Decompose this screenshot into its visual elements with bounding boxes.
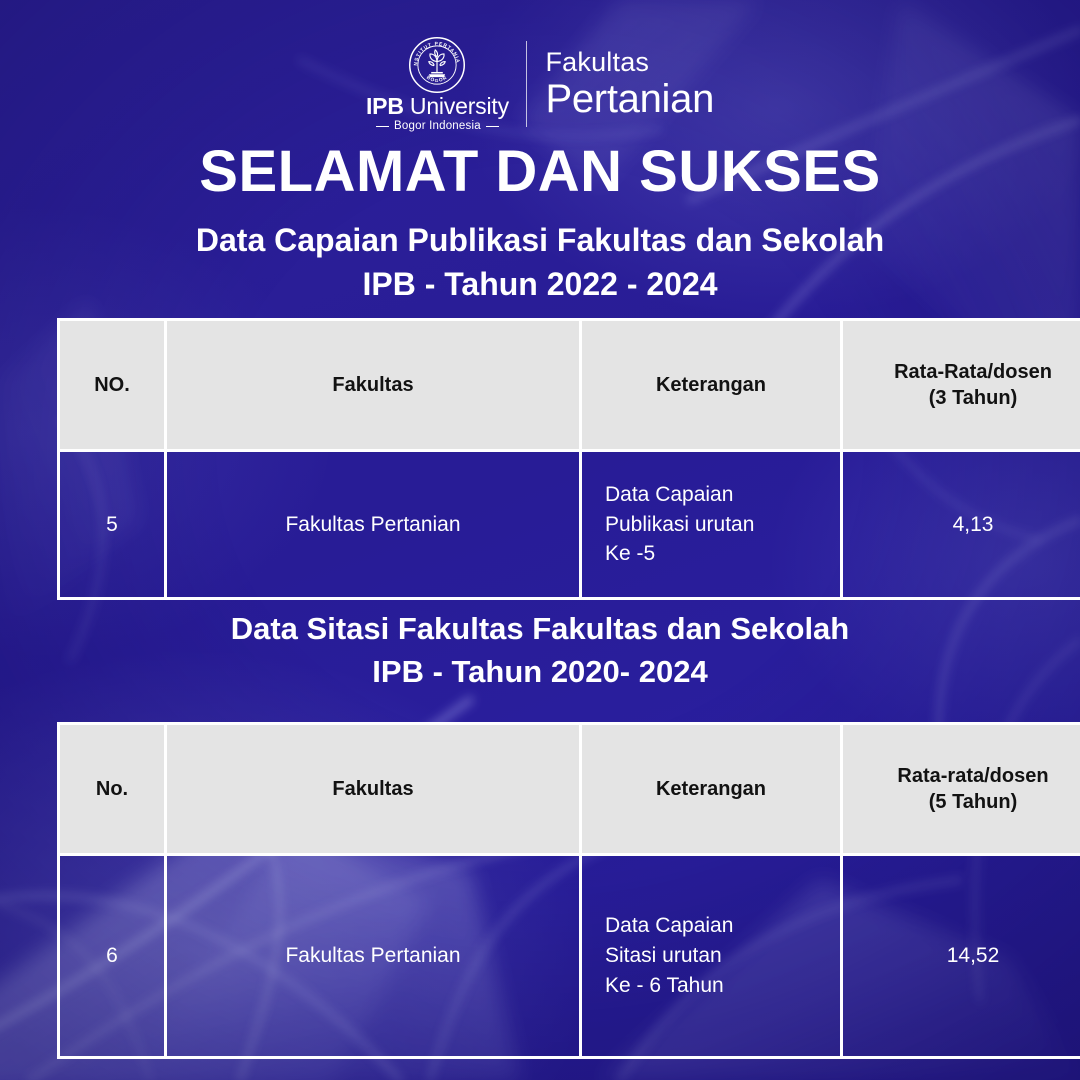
publication-data-table: NO. Fakultas Keterangan Rata-Rata/dosen … [57, 318, 1080, 600]
table-header-row: No. Fakultas Keterangan Rata-rata/dosen … [59, 724, 1080, 855]
column-header-average-line1: Rata-rata/dosen [851, 763, 1080, 789]
ipb-wordmark: IPB University [366, 95, 509, 118]
ipb-seal-icon: INSTITUT PERTANIAN BOGOR [408, 36, 466, 94]
ipb-tagline-text: Bogor Indonesia [394, 121, 481, 133]
column-header-keterangan: Keterangan [581, 724, 842, 855]
citation-table-head: No. Fakultas Keterangan Rata-rata/dosen … [59, 724, 1080, 855]
cell-keterangan-line1: Data Capaian [605, 911, 840, 941]
main-headline: SELAMAT DAN SUKSES [0, 142, 1080, 203]
tagline-dash-right-icon [486, 126, 499, 127]
brand-lockup: INSTITUT PERTANIAN BOGOR [0, 30, 1080, 138]
publication-table-head: NO. Fakultas Keterangan Rata-Rata/dosen … [59, 320, 1080, 451]
cell-average: 4,13 [842, 451, 1080, 599]
cell-keterangan: Data Capaian Sitasi urutan Ke - 6 Tahun [581, 855, 842, 1058]
ipb-wordmark-bold: IPB [366, 93, 404, 119]
subtitle-line1: Data Capaian Publikasi Fakultas dan Seko… [0, 218, 1080, 262]
faculty-wordmark-line1: Fakultas [545, 48, 649, 76]
ipb-tagline: Bogor Indonesia [376, 121, 499, 133]
tagline-dash-left-icon [376, 126, 389, 127]
column-header-keterangan: Keterangan [581, 320, 842, 451]
faculty-wordmark: Fakultas Pertanian [545, 48, 714, 119]
cell-average: 14,52 [842, 855, 1080, 1058]
cell-keterangan-line2: Publikasi urutan [605, 510, 840, 540]
column-header-average: Rata-rata/dosen (5 Tahun) [842, 724, 1080, 855]
cell-keterangan: Data Capaian Publikasi urutan Ke -5 [581, 451, 842, 599]
lockup-divider [526, 41, 528, 127]
citation-data-table: No. Fakultas Keterangan Rata-rata/dosen … [57, 722, 1080, 1059]
table-row: 6 Fakultas Pertanian Data Capaian Sitasi… [59, 855, 1080, 1058]
poster-canvas: INSTITUT PERTANIAN BOGOR [0, 0, 1080, 1080]
column-header-fakultas: Fakultas [166, 320, 581, 451]
poster-content: INSTITUT PERTANIAN BOGOR [0, 0, 1080, 1080]
column-header-average-line2: (5 Tahun) [851, 789, 1080, 815]
column-header-average-line2: (3 Tahun) [851, 385, 1080, 411]
cell-keterangan-line2: Sitasi urutan [605, 941, 840, 971]
column-header-no: No. [59, 724, 166, 855]
ipb-university-logo: INSTITUT PERTANIAN BOGOR [366, 36, 526, 133]
column-header-fakultas: Fakultas [166, 724, 581, 855]
cell-keterangan-line3: Ke - 6 Tahun [605, 971, 840, 1001]
column-header-average: Rata-Rata/dosen (3 Tahun) [842, 320, 1080, 451]
cell-fakultas: Fakultas Pertanian [166, 451, 581, 599]
cell-no: 5 [59, 451, 166, 599]
publication-table-body: 5 Fakultas Pertanian Data Capaian Publik… [59, 451, 1080, 599]
ipb-wordmark-light: University [404, 93, 509, 119]
citation-table-body: 6 Fakultas Pertanian Data Capaian Sitasi… [59, 855, 1080, 1058]
citation-section-title-line1: Data Sitasi Fakultas Fakultas dan Sekola… [0, 608, 1080, 651]
subtitle-block: Data Capaian Publikasi Fakultas dan Seko… [0, 218, 1080, 306]
subtitle-line2: IPB - Tahun 2022 - 2024 [0, 262, 1080, 306]
cell-no: 6 [59, 855, 166, 1058]
cell-keterangan-line1: Data Capaian [605, 480, 840, 510]
table-header-row: NO. Fakultas Keterangan Rata-Rata/dosen … [59, 320, 1080, 451]
column-header-average-line1: Rata-Rata/dosen [851, 359, 1080, 385]
citation-section-title-line2: IPB - Tahun 2020- 2024 [0, 651, 1080, 694]
column-header-no: NO. [59, 320, 166, 451]
citation-section-title: Data Sitasi Fakultas Fakultas dan Sekola… [0, 608, 1080, 694]
table-row: 5 Fakultas Pertanian Data Capaian Publik… [59, 451, 1080, 599]
cell-fakultas: Fakultas Pertanian [166, 855, 581, 1058]
faculty-wordmark-line2: Pertanian [545, 78, 714, 120]
cell-keterangan-line3: Ke -5 [605, 539, 840, 569]
